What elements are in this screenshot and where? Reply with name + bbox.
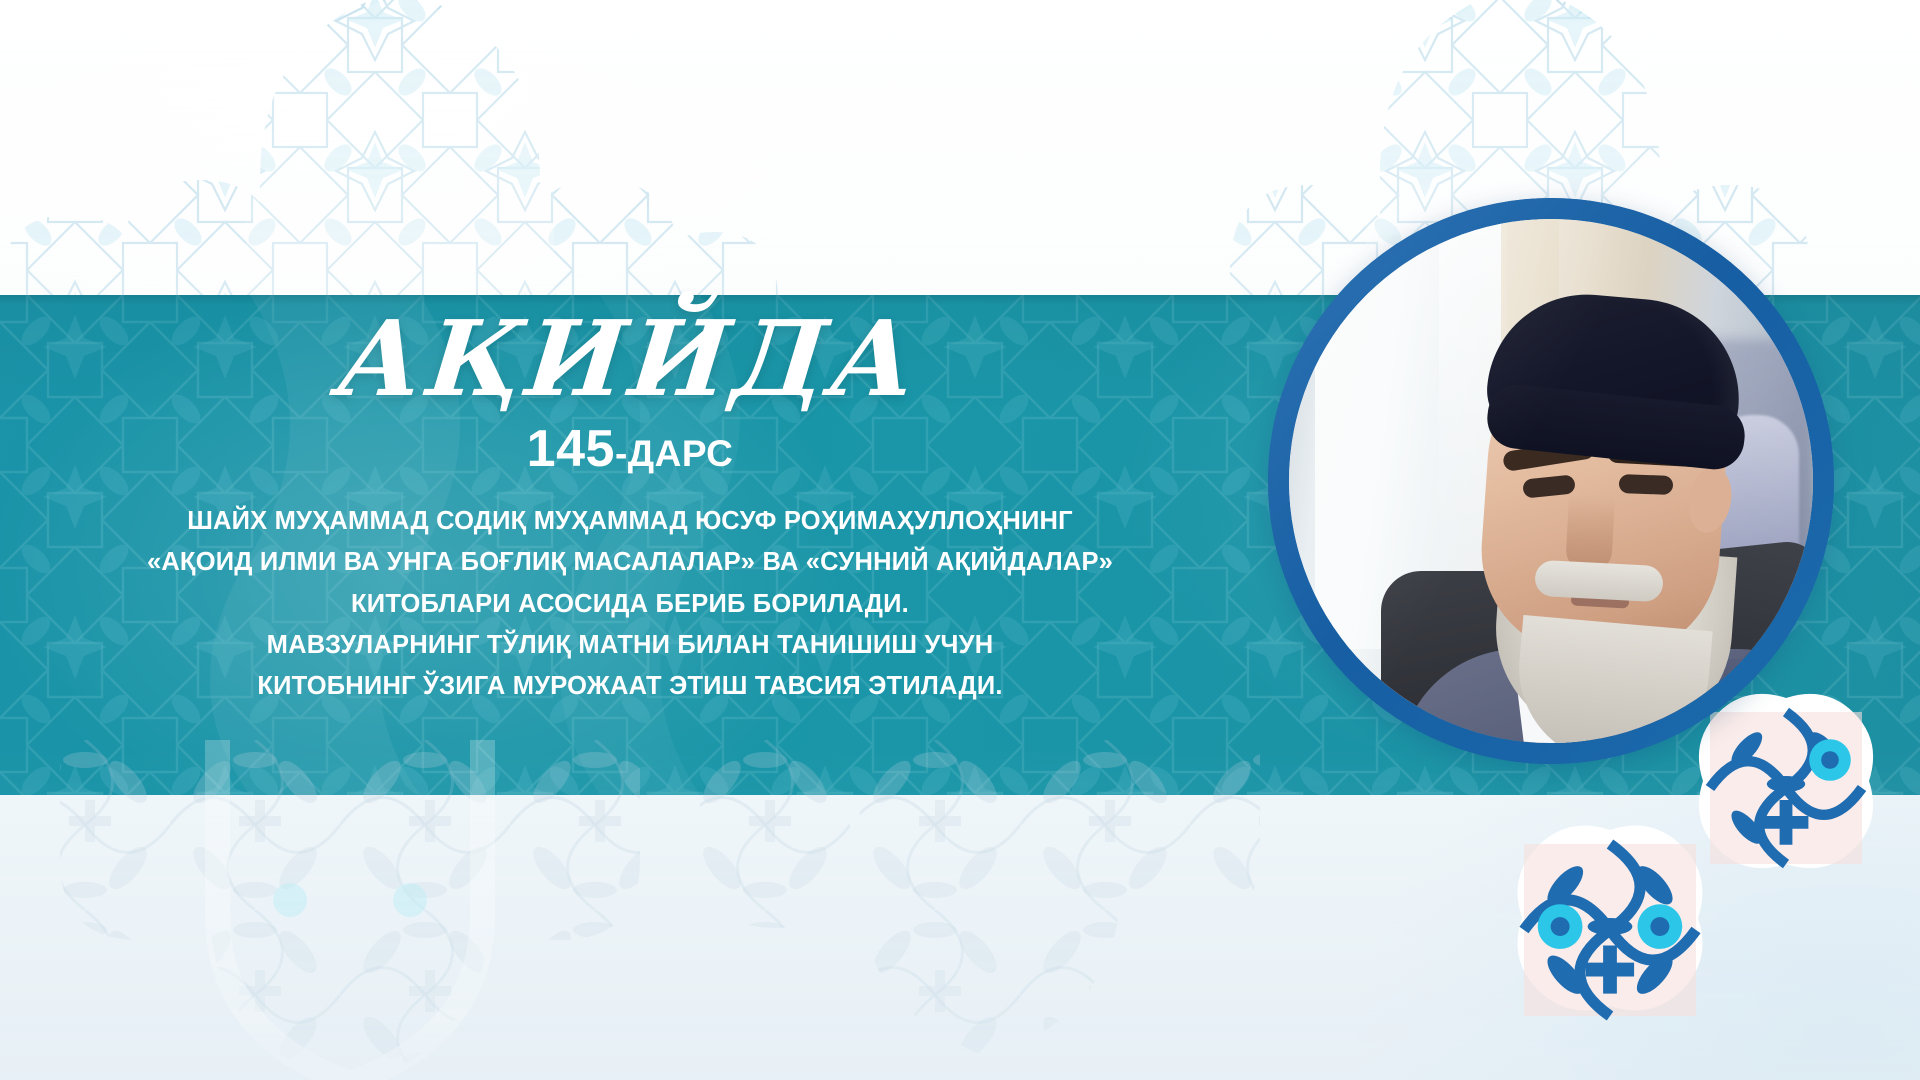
portrait-circle-frame [1268, 198, 1834, 764]
description-line-4: МАВЗУЛАРНИНГ ТЎЛИҚ МАТНИ БИЛАН ТАНИШИШ У… [10, 625, 1250, 666]
description-line-2: «АҚОИД ИЛМИ ВА УНГА БОҒЛИҚ МАСАЛАЛАР» ВА… [10, 542, 1250, 583]
description-line-1: ШАЙХ МУҲАММАД СОДИҚ МУҲАММАД ЮСУФ РОҲИМА… [10, 501, 1250, 542]
scholar-photo [1289, 219, 1813, 743]
description-paragraph: ШАЙХ МУҲАММАД СОДИҚ МУҲАММАД ЮСУФ РОҲИМА… [10, 501, 1250, 707]
description-line-5: КИТОБНИНГ ЎЗИГА МУРОЖААТ ЭТИШ ТАВСИЯ ЭТИ… [10, 666, 1250, 707]
avatar [1289, 219, 1813, 743]
page-title: АҚИЙДА [333, 307, 926, 411]
lesson-number-label: 145-ДАРС [527, 423, 734, 475]
poster-canvas: АҚИЙДА 145-ДАРС ШАЙХ МУҲАММАД СОДИҚ МУҲА… [0, 0, 1920, 1080]
description-line-3: КИТОБЛАРИ АСОСИДА БЕРИБ БОРИЛАДИ. [10, 584, 1250, 625]
text-content-column: АҚИЙДА 145-ДАРС ШАЙХ МУҲАММАД СОДИҚ МУҲА… [0, 295, 1260, 795]
lesson-word: -ДАРС [615, 433, 733, 474]
lesson-number: 145 [527, 420, 615, 478]
